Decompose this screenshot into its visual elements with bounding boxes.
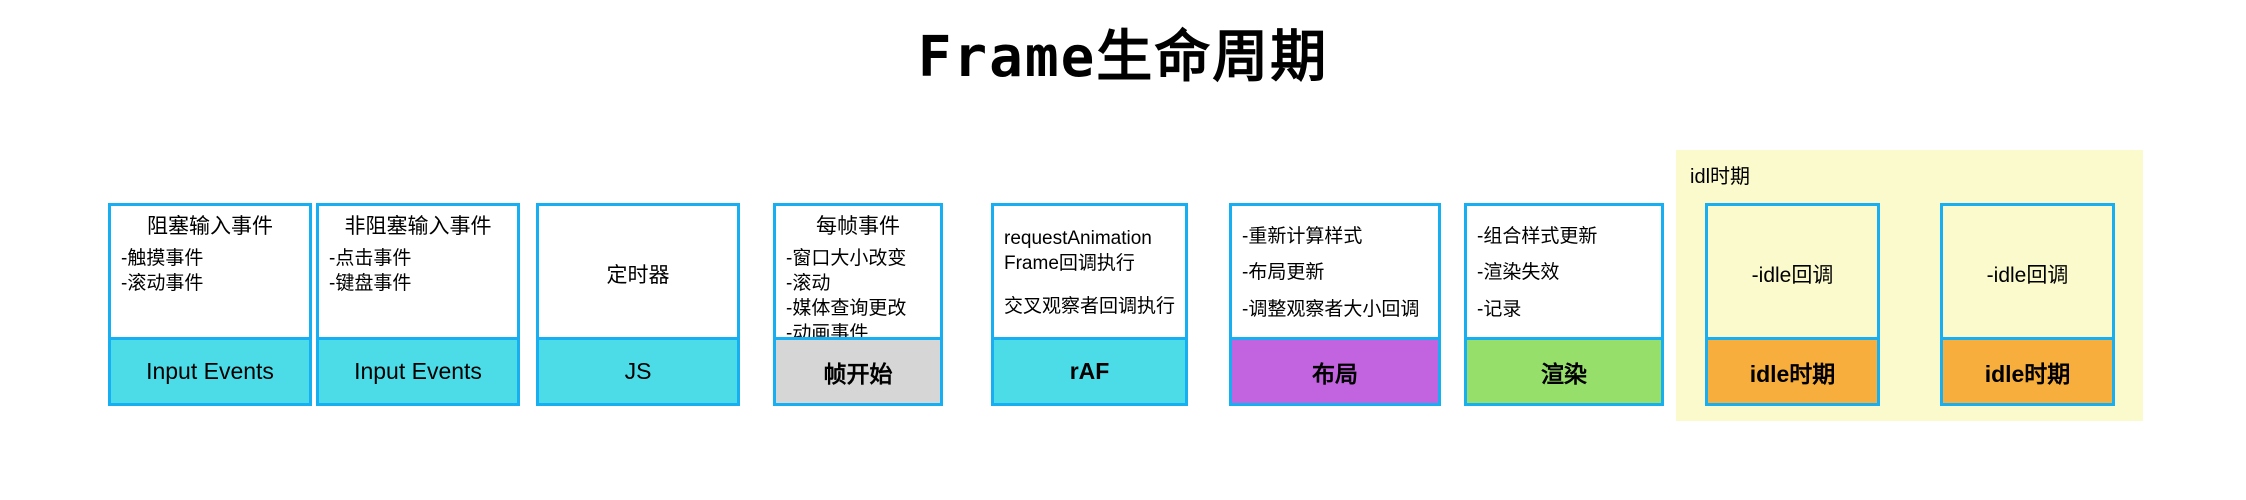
stage-footer-paint[interactable]: 渲染 xyxy=(1467,337,1661,403)
stage-footer-idle-callback-1[interactable]: idle时期 xyxy=(1708,337,1877,403)
stage-body-blocking-input-events: 阻塞输入事件-触摸事件-滚动事件 xyxy=(111,206,309,337)
stage-footer-non-blocking-input-events[interactable]: Input Events xyxy=(319,337,517,403)
stage-item-list-blocking-input-events: -触摸事件-滚动事件 xyxy=(121,246,299,296)
stage-item: -记录 xyxy=(1477,292,1651,328)
stage-box-non-blocking-input-events[interactable]: 非阻塞输入事件-点击事件-键盘事件Input Events xyxy=(316,203,520,406)
stage-item: -渲染失效 xyxy=(1477,255,1651,291)
stage-title-per-frame-events: 每帧事件 xyxy=(786,214,930,240)
stage-body-idle-callback-2: -idle回调 xyxy=(1943,206,2112,337)
stage-body-request-animation-frame: requestAnimation Frame回调执行交叉观察者回调执行 xyxy=(994,206,1185,337)
stage-item: -调整观察者大小回调 xyxy=(1242,292,1428,328)
stage-body-layout: -重新计算样式-布局更新-调整观察者大小回调 xyxy=(1232,206,1438,337)
stage-box-per-frame-events[interactable]: 每帧事件-窗口大小改变-滚动-媒体查询更改-动画事件帧开始 xyxy=(773,203,943,406)
stage-body-idle-callback-1: -idle回调 xyxy=(1708,206,1877,337)
stage-item: -窗口大小改变 xyxy=(786,246,930,271)
stage-item: -点击事件 xyxy=(329,246,507,271)
stage-single-label-idle-callback-2: -idle回调 xyxy=(1987,259,2069,289)
stage-item: -重新计算样式 xyxy=(1242,219,1428,255)
stage-paragraph: requestAnimation Frame回调执行 xyxy=(1004,227,1175,276)
stage-box-request-animation-frame[interactable]: requestAnimation Frame回调执行交叉观察者回调执行rAF xyxy=(991,203,1188,406)
stage-box-idle-callback-1[interactable]: -idle回调idle时期 xyxy=(1705,203,1880,406)
frame-lifecycle-stages: 阻塞输入事件-触摸事件-滚动事件Input Events非阻塞输入事件-点击事件… xyxy=(0,0,2246,500)
stage-item: -触摸事件 xyxy=(121,246,299,271)
stage-item: -组合样式更新 xyxy=(1477,219,1651,255)
stage-body-timers: 定时器 xyxy=(539,206,737,337)
stage-item: -滚动事件 xyxy=(121,271,299,296)
stage-body-non-blocking-input-events: 非阻塞输入事件-点击事件-键盘事件 xyxy=(319,206,517,337)
stage-footer-per-frame-events[interactable]: 帧开始 xyxy=(776,337,940,403)
stage-item: -布局更新 xyxy=(1242,255,1428,291)
stage-footer-blocking-input-events[interactable]: Input Events xyxy=(111,337,309,403)
stage-item: -动画事件 xyxy=(786,321,930,337)
stage-paragraph: 交叉观察者回调执行 xyxy=(1004,295,1175,320)
stage-item: -键盘事件 xyxy=(329,271,507,296)
stage-footer-request-animation-frame[interactable]: rAF xyxy=(994,337,1185,403)
stage-box-blocking-input-events[interactable]: 阻塞输入事件-触摸事件-滚动事件Input Events xyxy=(108,203,312,406)
stage-body-paint: -组合样式更新-渲染失效-记录 xyxy=(1467,206,1661,337)
stage-footer-timers[interactable]: JS xyxy=(539,337,737,403)
stage-title-non-blocking-input-events: 非阻塞输入事件 xyxy=(329,214,507,240)
stage-title-blocking-input-events: 阻塞输入事件 xyxy=(121,214,299,240)
stage-single-label-timers: 定时器 xyxy=(607,259,670,289)
stage-body-per-frame-events: 每帧事件-窗口大小改变-滚动-媒体查询更改-动画事件 xyxy=(776,206,940,337)
stage-box-layout[interactable]: -重新计算样式-布局更新-调整观察者大小回调布局 xyxy=(1229,203,1441,406)
stage-item: -媒体查询更改 xyxy=(786,296,930,321)
stage-box-paint[interactable]: -组合样式更新-渲染失效-记录渲染 xyxy=(1464,203,1664,406)
stage-item-list-paint: -组合样式更新-渲染失效-记录 xyxy=(1477,219,1651,327)
stage-item: -滚动 xyxy=(786,271,930,296)
stage-box-idle-callback-2[interactable]: -idle回调idle时期 xyxy=(1940,203,2115,406)
stage-footer-idle-callback-2[interactable]: idle时期 xyxy=(1943,337,2112,403)
stage-box-timers[interactable]: 定时器JS xyxy=(536,203,740,406)
stage-item-list-layout: -重新计算样式-布局更新-调整观察者大小回调 xyxy=(1242,219,1428,327)
stage-item-list-non-blocking-input-events: -点击事件-键盘事件 xyxy=(329,246,507,296)
stage-item-list-per-frame-events: -窗口大小改变-滚动-媒体查询更改-动画事件 xyxy=(786,246,930,337)
stage-footer-layout[interactable]: 布局 xyxy=(1232,337,1438,403)
stage-single-label-idle-callback-1: -idle回调 xyxy=(1752,259,1834,289)
